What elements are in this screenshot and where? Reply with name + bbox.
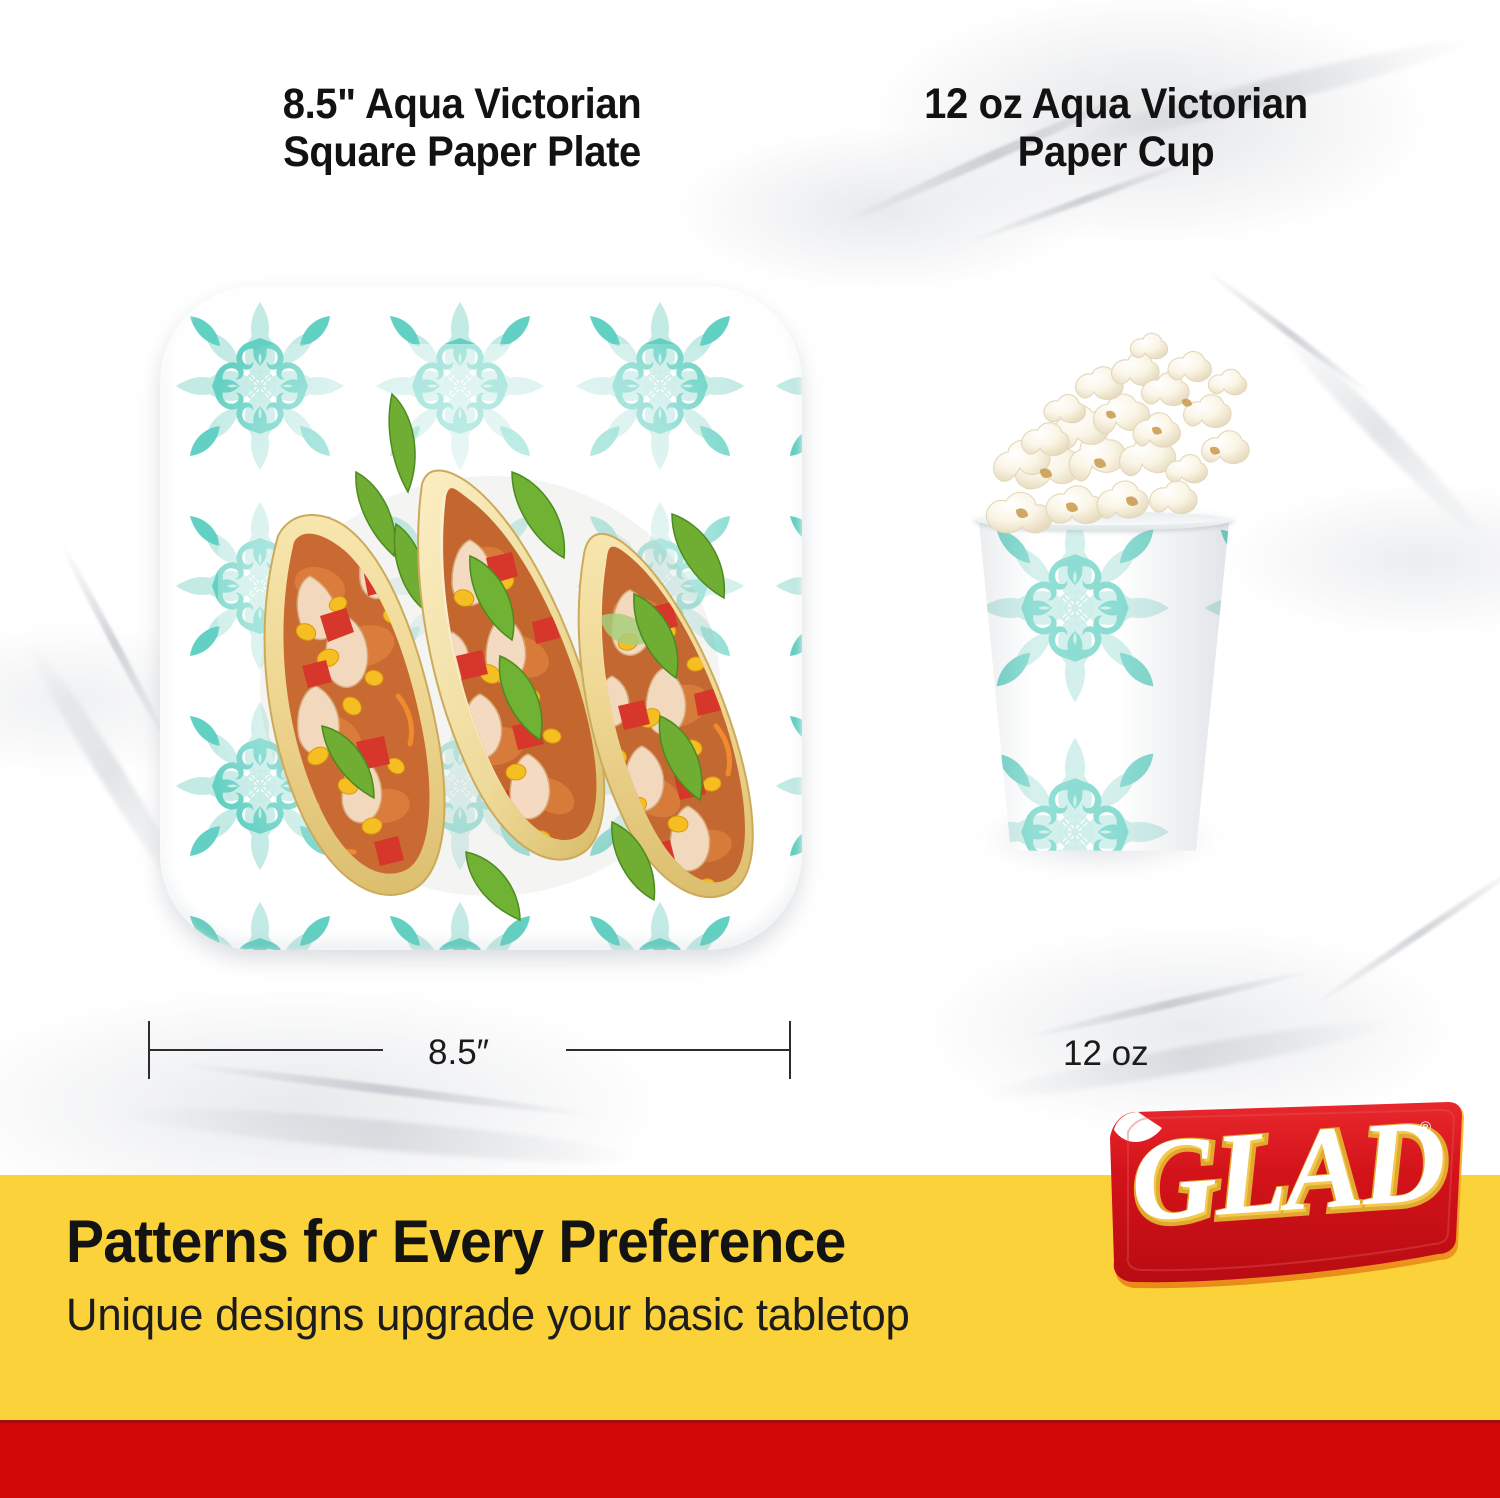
dimension-line-right: [566, 1049, 790, 1051]
cup-size-label: 12 oz: [1063, 1034, 1149, 1074]
product-heading-cup: 12 oz Aqua Victorian Paper Cup: [856, 80, 1377, 176]
plate-heading-line2: Square Paper Plate: [202, 128, 723, 176]
popcorn: [930, 320, 1270, 545]
dimension-line-left: [148, 1049, 383, 1051]
plate-size-label: 8.5″: [428, 1033, 489, 1073]
glad-logo: GLAD GLAD ®: [1098, 1098, 1470, 1296]
glad-wordmark: GLAD: [1127, 1098, 1449, 1247]
registered-trademark-icon: ®: [1420, 1119, 1431, 1136]
banner-title: Patterns for Every Preference: [66, 1207, 846, 1276]
bottom-red-bar: [0, 1420, 1500, 1498]
cup-damask-pattern: [978, 516, 1230, 854]
square-paper-plate: [160, 286, 802, 950]
tacos-food-photo: [160, 286, 802, 950]
plate-heading-line1: 8.5" Aqua Victorian: [202, 80, 723, 128]
banner-subtitle: Unique designs upgrade your basic tablet…: [66, 1289, 910, 1341]
product-heading-plate: 8.5" Aqua Victorian Square Paper Plate: [202, 80, 723, 176]
cup-heading-line1: 12 oz Aqua Victorian: [856, 80, 1377, 128]
dimension-tick-right: [789, 1021, 791, 1079]
product-marketing-image: 8.5" Aqua Victorian Square Paper Plate 1…: [0, 0, 1500, 1498]
paper-cup: [978, 516, 1230, 854]
cup-heading-line2: Paper Cup: [856, 128, 1377, 176]
